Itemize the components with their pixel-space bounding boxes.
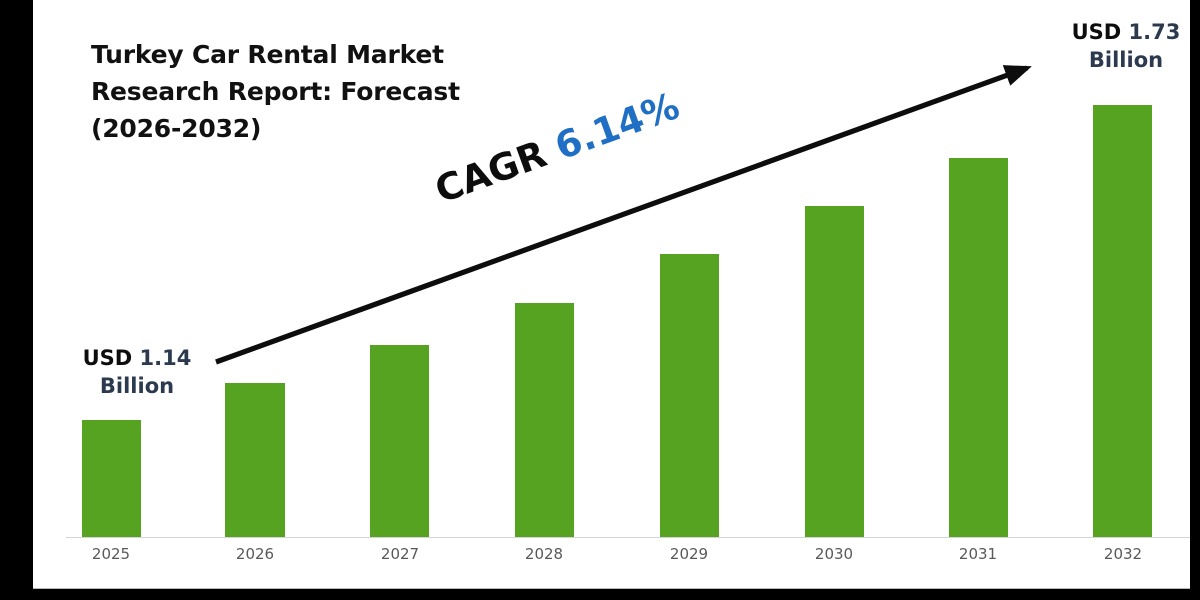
cagr-trend-arrow	[33, 0, 1190, 538]
x-tick-2028: 2028	[484, 545, 604, 563]
x-tick-2027: 2027	[340, 545, 460, 563]
chart-canvas: Turkey Car Rental Market Research Report…	[33, 0, 1190, 589]
bar-2030	[805, 206, 864, 537]
x-tick-2031: 2031	[918, 545, 1038, 563]
x-axis-line	[66, 537, 1190, 538]
x-axis-labels: 2025 2026 2027 2028 2029 2030 2031 2032	[33, 545, 1190, 580]
start-value-callout: USD 1.14 Billion	[62, 344, 212, 400]
plot-area: CAGR 6.14%	[33, 0, 1190, 538]
x-tick-2032: 2032	[1063, 545, 1183, 563]
start-currency: USD	[83, 346, 133, 370]
bar-2026	[225, 383, 285, 537]
x-tick-2029: 2029	[629, 545, 749, 563]
cagr-label: CAGR 6.14%	[430, 86, 684, 211]
end-currency: USD	[1072, 20, 1122, 44]
bar-2028	[515, 303, 574, 537]
start-unit: Billion	[62, 372, 212, 400]
chart-image: Turkey Car Rental Market Research Report…	[0, 0, 1200, 600]
bar-2025	[82, 420, 141, 537]
x-tick-2025: 2025	[51, 545, 171, 563]
x-tick-2026: 2026	[195, 545, 315, 563]
bar-2029	[660, 254, 719, 537]
end-unit: Billion	[1051, 46, 1190, 74]
cagr-value: 6.14%	[549, 84, 684, 168]
cagr-word: CAGR	[430, 132, 552, 211]
end-value-callout: USD 1.73 Billion	[1051, 18, 1190, 74]
bar-2031	[949, 158, 1008, 537]
end-amount: 1.73	[1129, 20, 1181, 44]
bar-2027	[370, 345, 429, 537]
bar-2032	[1093, 105, 1152, 537]
x-tick-2030: 2030	[774, 545, 894, 563]
start-amount: 1.14	[140, 346, 192, 370]
